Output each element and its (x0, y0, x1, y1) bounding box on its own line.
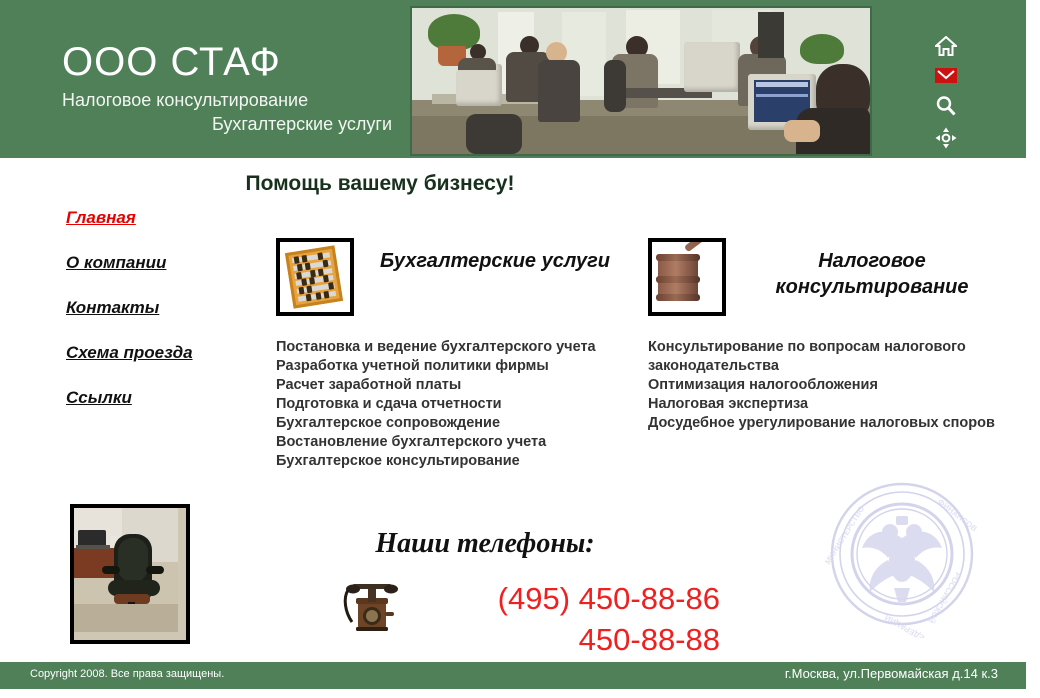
phones-title: Наши телефоны: (260, 528, 710, 560)
service-item: Досудебное урегулирование налоговых спор… (648, 414, 1018, 433)
service-item: Подготовка и сдача отчетности (276, 395, 636, 414)
mail-icon[interactable] (935, 68, 957, 83)
svg-text:ФИНАНСОВ: ФИНАНСОВ (936, 497, 979, 533)
home-icon[interactable] (935, 36, 959, 60)
service-column-accounting: Бухгалтерские услуги Постановка и ведени… (276, 238, 636, 471)
main-nav: Главная О компании Контакты Схема проезд… (66, 208, 266, 433)
brand-tagline-1: Налоговое консультирование (62, 88, 402, 112)
office-scene (412, 8, 870, 154)
brand-tagline-2: Бухгалтерские услуги (62, 112, 402, 136)
nav-item-ssylki[interactable]: Ссылки (66, 388, 132, 408)
service-item: Оптимизация налогообложения (648, 376, 1018, 395)
sitemap-move-icon[interactable] (935, 127, 959, 151)
service-item: Налоговая экспертиза (648, 395, 1018, 414)
office-chair-photo (70, 504, 190, 644)
brand-block: ООО СТАФ Налоговое консультирование Бухг… (62, 40, 402, 136)
phone-number-secondary[interactable]: 450-88-88 (300, 619, 720, 660)
header-icon-column (935, 36, 963, 159)
nav-item-o-kompanii[interactable]: О компании (66, 253, 166, 273)
service-item: Бухгалтерское консультирование (276, 452, 636, 471)
phone-numbers: (495) 450-88-86 450-88-88 (300, 578, 800, 660)
page-root: ООО СТАФ Налоговое консультирование Бухг… (0, 0, 1040, 698)
service-column-tax: Налоговое консультирование Консультирова… (648, 238, 1018, 433)
service-item: Консультирование по вопросам налогового … (648, 338, 1018, 376)
gavel-icon (648, 238, 726, 316)
service-item: Бухгалтерское сопровождение (276, 414, 636, 433)
service-item: Востановление бухгалтерского учета (276, 433, 636, 452)
ministry-stamp-watermark: МИНИСТЕРСТВО ФИНАНСОВ РОССИЙСКОЙ ФЕДЕРАЦ… (824, 476, 984, 638)
service-title: Налоговое консультирование (726, 238, 1018, 300)
nav-item-glavnaya[interactable]: Главная (66, 208, 136, 228)
phone-number-primary[interactable]: (495) 450-88-86 (300, 578, 720, 619)
search-icon[interactable] (935, 95, 959, 119)
nav-item-kontakty[interactable]: Контакты (66, 298, 159, 318)
service-item: Разработка учетной политики фирмы (276, 357, 636, 376)
service-item: Постановка и ведение бухгалтерского учет… (276, 338, 636, 357)
service-item: Расчет заработной платы (276, 376, 636, 395)
service-item-list: Консультирование по вопросам налогового … (648, 338, 1018, 433)
page-title: Помощь вашему бизнесу! (0, 172, 760, 196)
footer-address: г.Москва, ул.Первомайская д.14 к.3 (785, 666, 998, 681)
service-header: Налоговое консультирование (648, 238, 1018, 316)
service-item-list: Постановка и ведение бухгалтерского учет… (276, 338, 636, 471)
site-header: ООО СТАФ Налоговое консультирование Бухг… (0, 0, 1026, 158)
footer-copyright: Copyright 2008. Все права защищены. (30, 668, 224, 680)
site-footer: Copyright 2008. Все права защищены. г.Мо… (0, 662, 1026, 689)
service-header: Бухгалтерские услуги (276, 238, 636, 316)
header-office-photo (410, 6, 872, 156)
brand-title: ООО СТАФ (62, 40, 402, 84)
nav-item-shema-proezda[interactable]: Схема проезда (66, 343, 193, 363)
service-title: Бухгалтерские услуги (354, 238, 636, 274)
abacus-icon (276, 238, 354, 316)
